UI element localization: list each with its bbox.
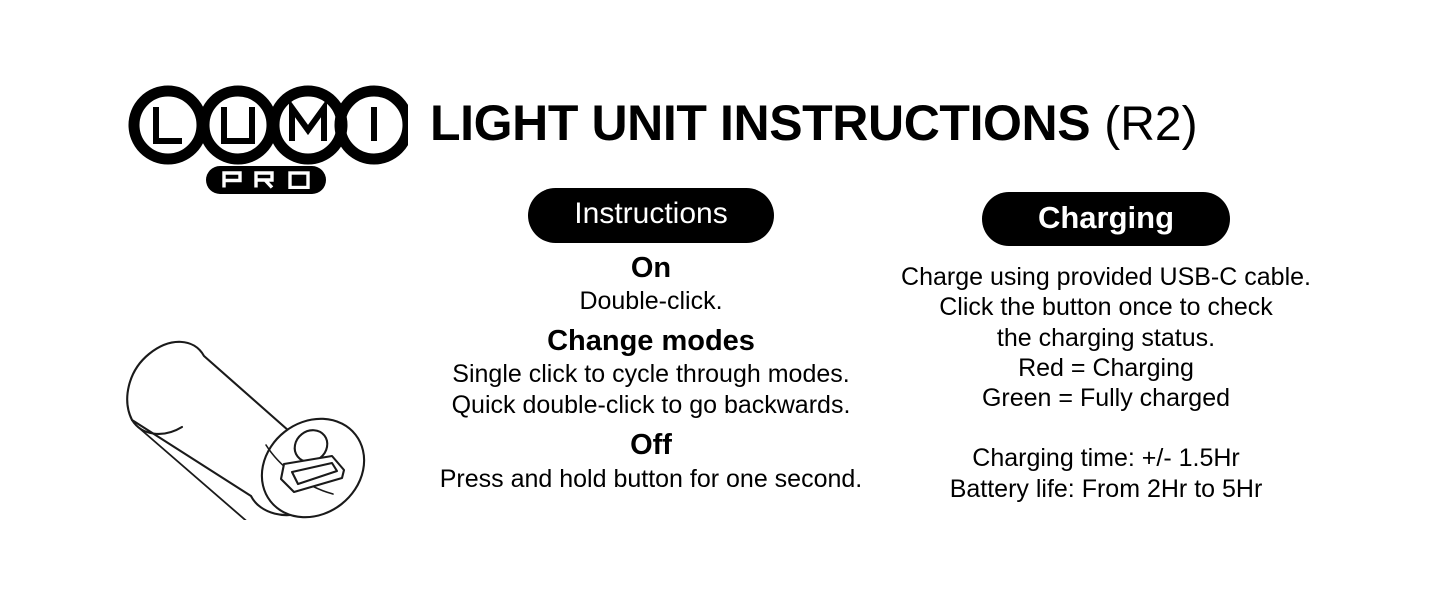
- instructions-body-change-modes-1: Single click to cycle through modes.: [412, 359, 890, 389]
- logo-circle-2: [204, 91, 272, 159]
- logo-circle-1: [134, 91, 202, 159]
- logo-pro-badge: [206, 166, 326, 194]
- instructions-column: Instructions On Double-click. Change mod…: [412, 188, 890, 494]
- charging-spec-charging-time: Charging time: +/- 1.5Hr: [880, 443, 1332, 473]
- logo-letter-l: [156, 107, 182, 141]
- logo-pro-lettering: [218, 171, 314, 189]
- light-unit-product-illustration: [108, 250, 408, 520]
- charging-description: Charge using provided USB-C cable. Click…: [880, 262, 1332, 413]
- charging-spec-battery-life: Battery life: From 2Hr to 5Hr: [880, 474, 1332, 504]
- charging-line-2: Click the button once to check: [880, 292, 1332, 322]
- logo-letter-m: [292, 108, 324, 141]
- charging-specs: Charging time: +/- 1.5Hr Battery life: F…: [880, 443, 1332, 504]
- instructions-body-off-1: Press and hold button for one second.: [412, 464, 890, 494]
- page-title: LIGHT UNIT INSTRUCTIONS (R2): [430, 98, 1290, 160]
- logo-letter-u: [224, 107, 252, 141]
- lumi-circles-logo: [128, 80, 408, 170]
- instructions-body-change-modes-2: Quick double-click to go backwards.: [412, 390, 890, 420]
- charging-pill-heading: Charging: [982, 192, 1230, 246]
- instructions-heading-on: On: [412, 251, 890, 285]
- instructions-sections: On Double-click. Change modes Single cli…: [412, 251, 890, 494]
- charging-line-1: Charge using provided USB-C cable.: [880, 262, 1332, 292]
- charging-line-green-status: Green = Fully charged: [880, 383, 1332, 413]
- charging-column: Charging Charge using provided USB-C cab…: [880, 192, 1332, 504]
- charging-line-red-status: Red = Charging: [880, 353, 1332, 383]
- instruction-card: LIGHT UNIT INSTRUCTIONS (R2) Instruction…: [0, 0, 1445, 609]
- page-title-main: LIGHT UNIT INSTRUCTIONS: [430, 98, 1090, 148]
- instructions-pill-heading: Instructions: [528, 188, 773, 243]
- page-title-revision: (R2): [1104, 101, 1197, 149]
- instructions-heading-change-modes: Change modes: [412, 324, 890, 358]
- charging-line-3: the charging status.: [880, 323, 1332, 353]
- instructions-body-on-1: Double-click.: [412, 286, 890, 316]
- instructions-heading-off: Off: [412, 428, 890, 462]
- lumi-pro-logo: [128, 80, 408, 200]
